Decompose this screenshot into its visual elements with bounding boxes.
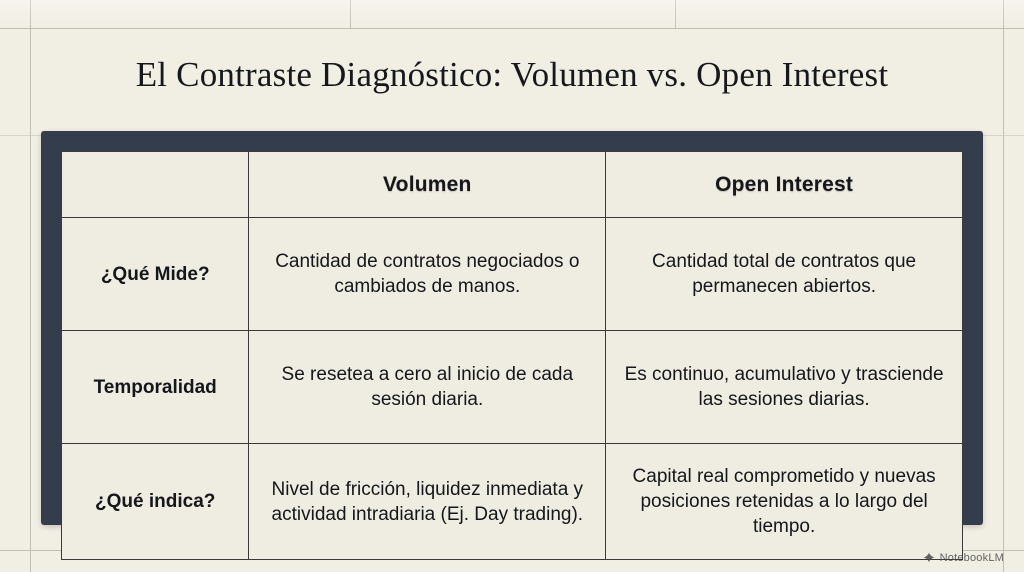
grid-line-vertical-mid-2 [675,0,676,29]
cell-open-interest-que-mide: Cantidad total de contratos que permanec… [606,218,963,331]
table-header-blank [62,152,249,218]
cell-volumen-temporalidad: Se resetea a cero al inicio de cada sesi… [249,331,606,444]
table-header-row: Volumen Open Interest [62,152,963,218]
comparison-table: Volumen Open Interest ¿Qué Mide? Cantida… [61,151,963,560]
notebooklm-watermark: NotebookLM [923,552,1004,564]
grid-line-horizontal-top [0,28,1024,29]
cell-volumen-que-indica: Nivel de fricción, liquidez inmediata y … [249,444,606,560]
comparison-table-frame: Volumen Open Interest ¿Qué Mide? Cantida… [41,131,983,525]
cell-open-interest-temporalidad: Es continuo, acumulativo y trasciende la… [606,331,963,444]
table-header-open-interest: Open Interest [606,152,963,218]
notebooklm-spark-icon [923,552,935,564]
table-row: ¿Qué indica? Nivel de fricción, liquidez… [62,444,963,560]
slide-canvas: El Contraste Diagnóstico: Volumen vs. Op… [0,0,1024,572]
table-row: ¿Qué Mide? Cantidad de contratos negocia… [62,218,963,331]
row-label-temporalidad: Temporalidad [62,331,249,444]
page-title: El Contraste Diagnóstico: Volumen vs. Op… [0,52,1024,98]
cell-open-interest-que-indica: Capital real comprometido y nuevas posic… [606,444,963,560]
table-row: Temporalidad Se resetea a cero al inicio… [62,331,963,444]
notebooklm-label: NotebookLM [940,552,1004,564]
grid-line-vertical-mid-1 [350,0,351,29]
table-header-volumen: Volumen [249,152,606,218]
row-label-que-indica: ¿Qué indica? [62,444,249,560]
cell-volumen-que-mide: Cantidad de contratos negociados o cambi… [249,218,606,331]
paper-band-top [0,0,1024,28]
row-label-que-mide: ¿Qué Mide? [62,218,249,331]
